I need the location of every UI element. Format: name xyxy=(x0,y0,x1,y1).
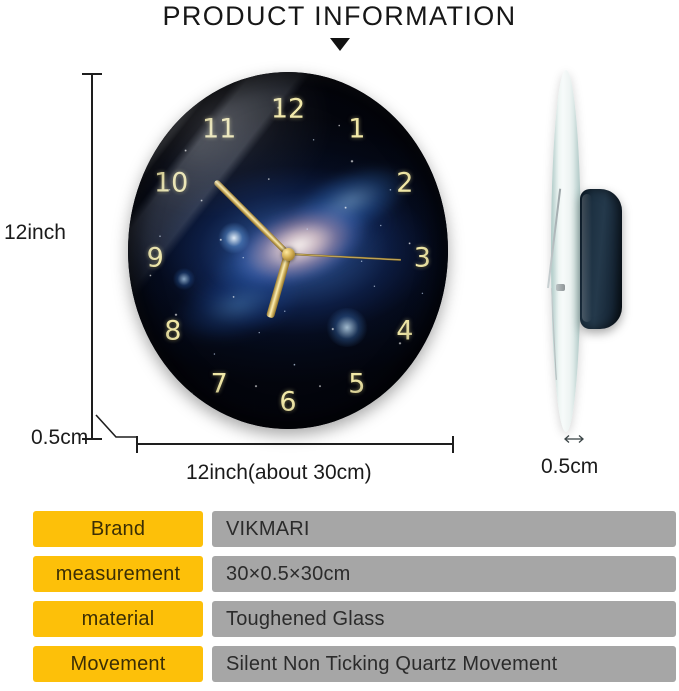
spec-value-movement: Silent Non Ticking Quartz Movement xyxy=(212,646,676,682)
side-center-hub xyxy=(556,284,565,291)
spec-key-measurement: measurement xyxy=(33,556,203,592)
page-title: PRODUCT INFORMATION xyxy=(0,1,679,32)
width-dimension-label: 12inch(about 30cm) xyxy=(186,461,372,485)
spec-value-material: Toughened Glass xyxy=(212,601,676,637)
side-movement-highlight xyxy=(582,194,592,322)
thickness-dimension-label: 0.5cm xyxy=(31,426,88,450)
height-dimension-line xyxy=(91,73,93,439)
triangle-down-icon xyxy=(330,38,350,51)
spec-key-brand: Brand xyxy=(33,511,203,547)
clock-numeral-3: 3 xyxy=(414,242,431,273)
clock-numeral-6: 6 xyxy=(279,387,296,418)
clock-numeral-11: 11 xyxy=(202,114,236,145)
spec-key-movement: Movement xyxy=(33,646,203,682)
clock-numeral-12: 12 xyxy=(271,94,305,125)
clock-numeral-8: 8 xyxy=(164,315,181,346)
clock-center-hub xyxy=(282,248,295,261)
spec-value-brand: VIKMARI xyxy=(212,511,676,547)
clock-numeral-1: 1 xyxy=(348,114,365,145)
height-dimension-label: 12inch xyxy=(4,221,66,245)
clock-numeral-4: 4 xyxy=(396,315,413,346)
table-row: measurement 30×0.5×30cm xyxy=(33,556,676,592)
spec-table: Brand VIKMARI measurement 30×0.5×30cm ma… xyxy=(33,511,676,691)
clock-numeral-9: 9 xyxy=(147,242,164,273)
thickness-leader-line xyxy=(94,413,140,445)
clock-numeral-5: 5 xyxy=(348,369,365,400)
clock-numeral-10: 10 xyxy=(154,167,188,198)
table-row: Movement Silent Non Ticking Quartz Movem… xyxy=(33,646,676,682)
clock-numeral-7: 7 xyxy=(211,369,228,400)
spec-key-material: material xyxy=(33,601,203,637)
side-depth-arrow-icon xyxy=(563,432,585,444)
side-depth-dimension-label: 0.5cm xyxy=(541,455,598,479)
galaxy-wall-clock-front-view: 12 1 2 3 4 5 6 7 8 9 10 11 xyxy=(128,72,448,429)
clock-numeral-2: 2 xyxy=(396,167,413,198)
width-dimension-tick-right xyxy=(452,436,454,453)
galaxy-wall-clock-side-view xyxy=(533,70,643,432)
spec-value-measurement: 30×0.5×30cm xyxy=(212,556,676,592)
width-dimension-line xyxy=(136,443,453,445)
clock-dial: 12 1 2 3 4 5 6 7 8 9 10 11 xyxy=(128,72,448,429)
height-dimension-tick-top xyxy=(82,73,102,75)
table-row: material Toughened Glass xyxy=(33,601,676,637)
table-row: Brand VIKMARI xyxy=(33,511,676,547)
